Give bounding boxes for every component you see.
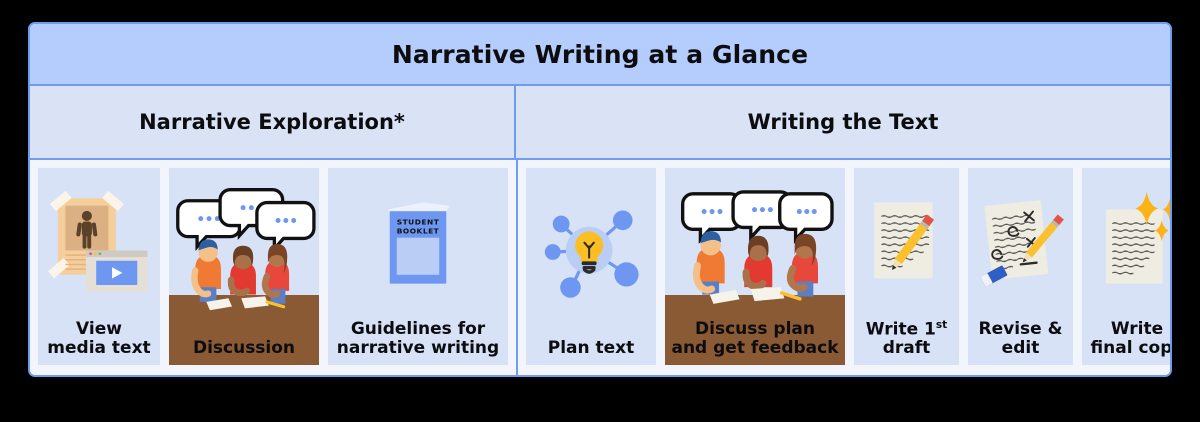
label-ordinal-suffix: st xyxy=(936,319,947,331)
card-discussion[interactable]: Discussion xyxy=(169,168,319,365)
section-header-band: Narrative Exploration* Writing the Text xyxy=(30,86,1170,160)
at-a-glance-table: Narrative Writing at a Glance Narrative … xyxy=(28,22,1172,377)
lightbulb-mindmap-icon xyxy=(526,168,656,337)
infographic-canvas: Narrative Writing at a Glance Narrative … xyxy=(0,0,1200,422)
cards-row: View media text xyxy=(30,160,1170,375)
title-band: Narrative Writing at a Glance xyxy=(30,24,1170,86)
card-label-revise-edit: Revise & edit xyxy=(968,318,1073,365)
section-header-writing-the-text: Writing the Text xyxy=(516,86,1170,158)
group-writing-the-text: Plan text xyxy=(518,160,1172,375)
label-line-2: edit xyxy=(1002,338,1040,358)
label-line-2: media text xyxy=(47,338,150,358)
card-discuss-plan-feedback[interactable]: Discuss plan and get feedback xyxy=(665,168,845,365)
page-title: Narrative Writing at a Glance xyxy=(392,40,808,69)
card-revise-edit[interactable]: Revise & edit xyxy=(968,168,1073,365)
card-guidelines[interactable]: STUDENT BOOKLET Guidelines for narrative… xyxy=(328,168,508,365)
group-narrative-exploration: View media text xyxy=(30,160,518,375)
label-line-2: and get feedback xyxy=(671,338,838,358)
label-line-1: Discuss plan xyxy=(695,319,815,339)
student-booklet-icon: STUDENT BOOKLET xyxy=(328,168,508,318)
card-label-view-media-text: View media text xyxy=(38,318,160,365)
label-line-1: Guidelines for xyxy=(351,319,485,339)
label-line-2: narrative writing xyxy=(337,338,499,358)
paper-and-pencil-icon xyxy=(854,168,959,318)
card-view-media-text[interactable]: View media text xyxy=(38,168,160,365)
card-write-first-draft[interactable]: Write 1st draft xyxy=(854,168,959,365)
label-line-1: Write 1 xyxy=(866,319,936,339)
label-line-2: final copy xyxy=(1091,338,1172,358)
clean-paper-sparkles-icon xyxy=(1082,168,1172,318)
card-label-discussion: Discussion xyxy=(169,337,319,365)
card-write-final-copy[interactable]: Write final copy xyxy=(1082,168,1172,365)
label-line-1: View xyxy=(76,319,122,339)
three-students-talking-icon xyxy=(169,168,319,337)
marked-up-paper-eraser-pencil-icon xyxy=(968,168,1073,318)
card-plan-text[interactable]: Plan text xyxy=(526,168,656,365)
card-label-guidelines: Guidelines for narrative writing xyxy=(328,318,508,365)
label-line-1: Write xyxy=(1111,319,1163,339)
svg-text:BOOKLET: BOOKLET xyxy=(397,226,440,235)
three-students-at-table-icon xyxy=(665,168,845,318)
card-label-discuss-plan-feedback: Discuss plan and get feedback xyxy=(665,318,845,365)
poster-and-video-player-icon xyxy=(38,168,160,318)
label-line-2: draft xyxy=(883,338,931,358)
svg-text:STUDENT: STUDENT xyxy=(397,218,440,227)
card-label-plan-text: Plan text xyxy=(526,337,656,365)
card-label-write-first-draft: Write 1st draft xyxy=(854,318,959,365)
card-label-write-final-copy: Write final copy xyxy=(1082,318,1172,365)
label-line-1: Revise & xyxy=(979,319,1063,339)
section-header-narrative-exploration: Narrative Exploration* xyxy=(30,86,516,158)
